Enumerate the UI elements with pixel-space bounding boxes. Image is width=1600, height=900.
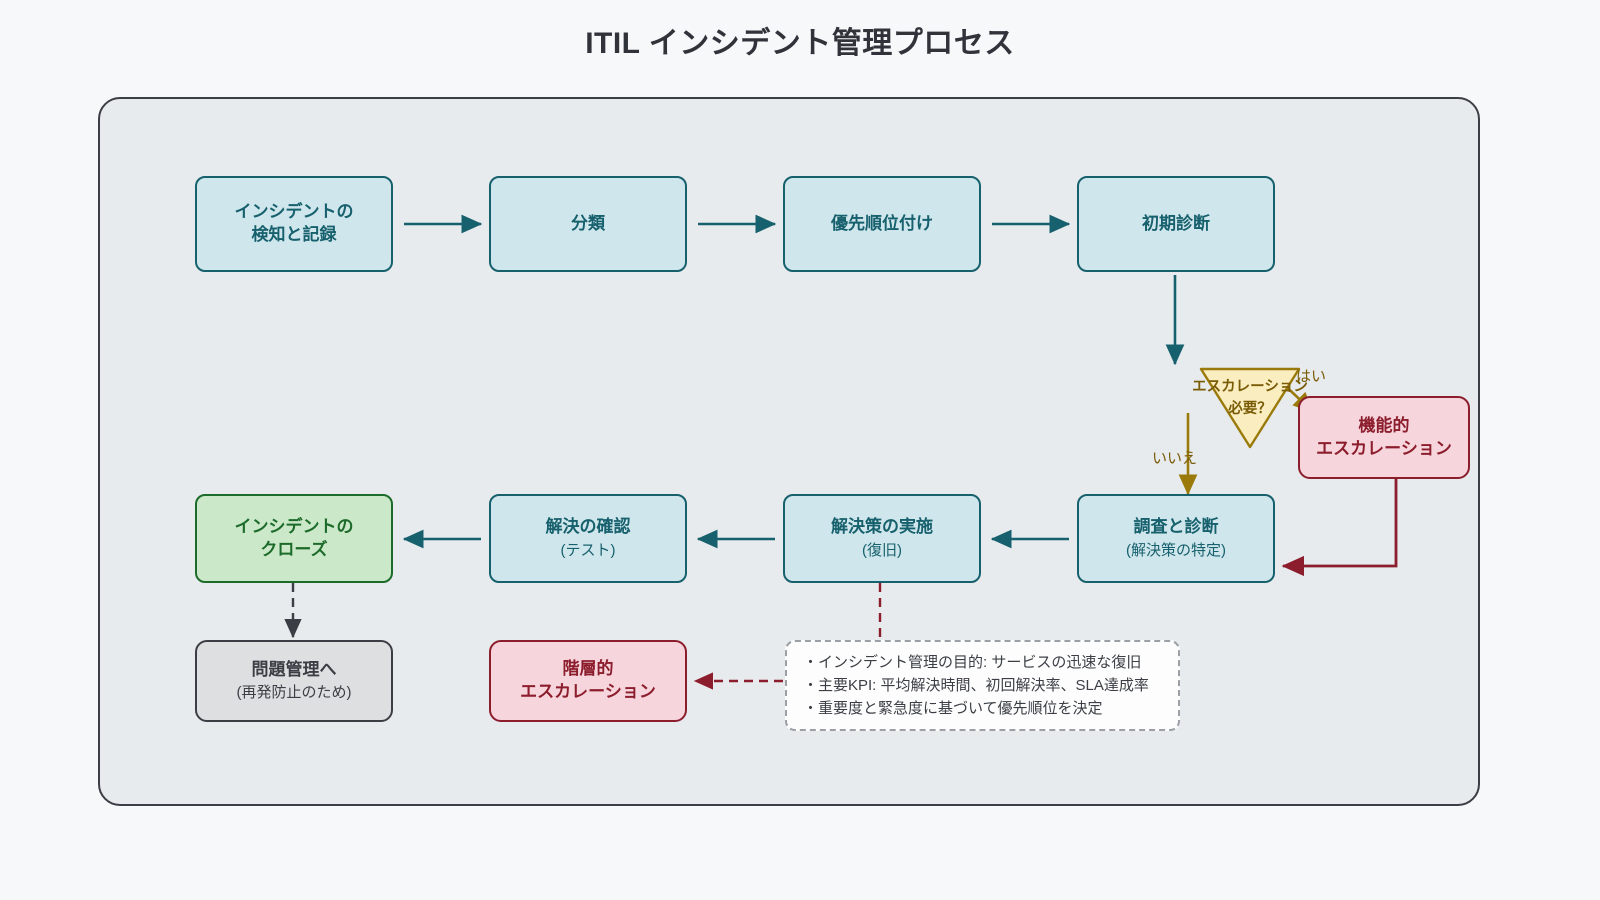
node-prioritization[interactable]: 優先順位付け: [783, 176, 981, 272]
node-investigation-and-diagnosis[interactable]: 調査と診断 (解決策の特定): [1077, 494, 1275, 583]
node-detect-and-record[interactable]: インシデントの 検知と記録: [195, 176, 393, 272]
node-sublabel: (再発防止のため): [237, 683, 352, 703]
node-key-points-note: ・インシデント管理の目的: サービスの迅速な復旧 ・主要KPI: 平均解決時間、…: [785, 640, 1180, 731]
node-label: 解決の確認: [546, 516, 631, 539]
edge-label-no: いいえ: [1152, 447, 1197, 468]
node-label: 階層的: [563, 658, 614, 681]
node-initial-diagnosis[interactable]: 初期診断: [1077, 176, 1275, 272]
node-label: インシデントの: [235, 516, 354, 539]
node-sublabel: (テスト): [561, 541, 616, 561]
node-incident-close[interactable]: インシデントの クローズ: [195, 494, 393, 583]
edge-label-yes: はい: [1296, 365, 1326, 386]
node-classification[interactable]: 分類: [489, 176, 687, 272]
node-hierarchical-escalation[interactable]: 階層的 エスカレーション: [489, 640, 687, 722]
node-label-line2: 検知と記録: [252, 224, 337, 247]
node-escalation-decision[interactable]: [1199, 367, 1301, 449]
node-label: 調査と診断: [1134, 516, 1219, 539]
node-label: インシデントの: [235, 201, 354, 224]
note-line-3: ・重要度と緊急度に基づいて優先順位を決定: [803, 697, 1103, 720]
node-label: 優先順位付け: [831, 213, 933, 236]
node-resolution-implementation[interactable]: 解決策の実施 (復旧): [783, 494, 981, 583]
node-label-line2: エスカレーション: [520, 681, 656, 704]
node-label: 機能的: [1359, 415, 1410, 438]
node-problem-management[interactable]: 問題管理へ (再発防止のため): [195, 640, 393, 722]
note-line-1: ・インシデント管理の目的: サービスの迅速な復旧: [803, 651, 1141, 674]
node-label: 分類: [571, 213, 605, 236]
node-sublabel: (復旧): [862, 541, 902, 561]
node-sublabel: (解決策の特定): [1126, 541, 1226, 561]
note-line-2: ・主要KPI: 平均解決時間、初回解決率、SLA達成率: [803, 674, 1149, 697]
page-title: ITIL インシデント管理プロセス: [0, 18, 1600, 62]
node-resolution-verification[interactable]: 解決の確認 (テスト): [489, 494, 687, 583]
node-label: 初期診断: [1142, 213, 1210, 236]
node-label: 問題管理へ: [252, 659, 337, 682]
node-functional-escalation[interactable]: 機能的 エスカレーション: [1298, 396, 1470, 479]
node-label: 解決策の実施: [831, 516, 933, 539]
node-label-line2: エスカレーション: [1316, 438, 1452, 461]
node-label-line2: クローズ: [260, 539, 327, 562]
